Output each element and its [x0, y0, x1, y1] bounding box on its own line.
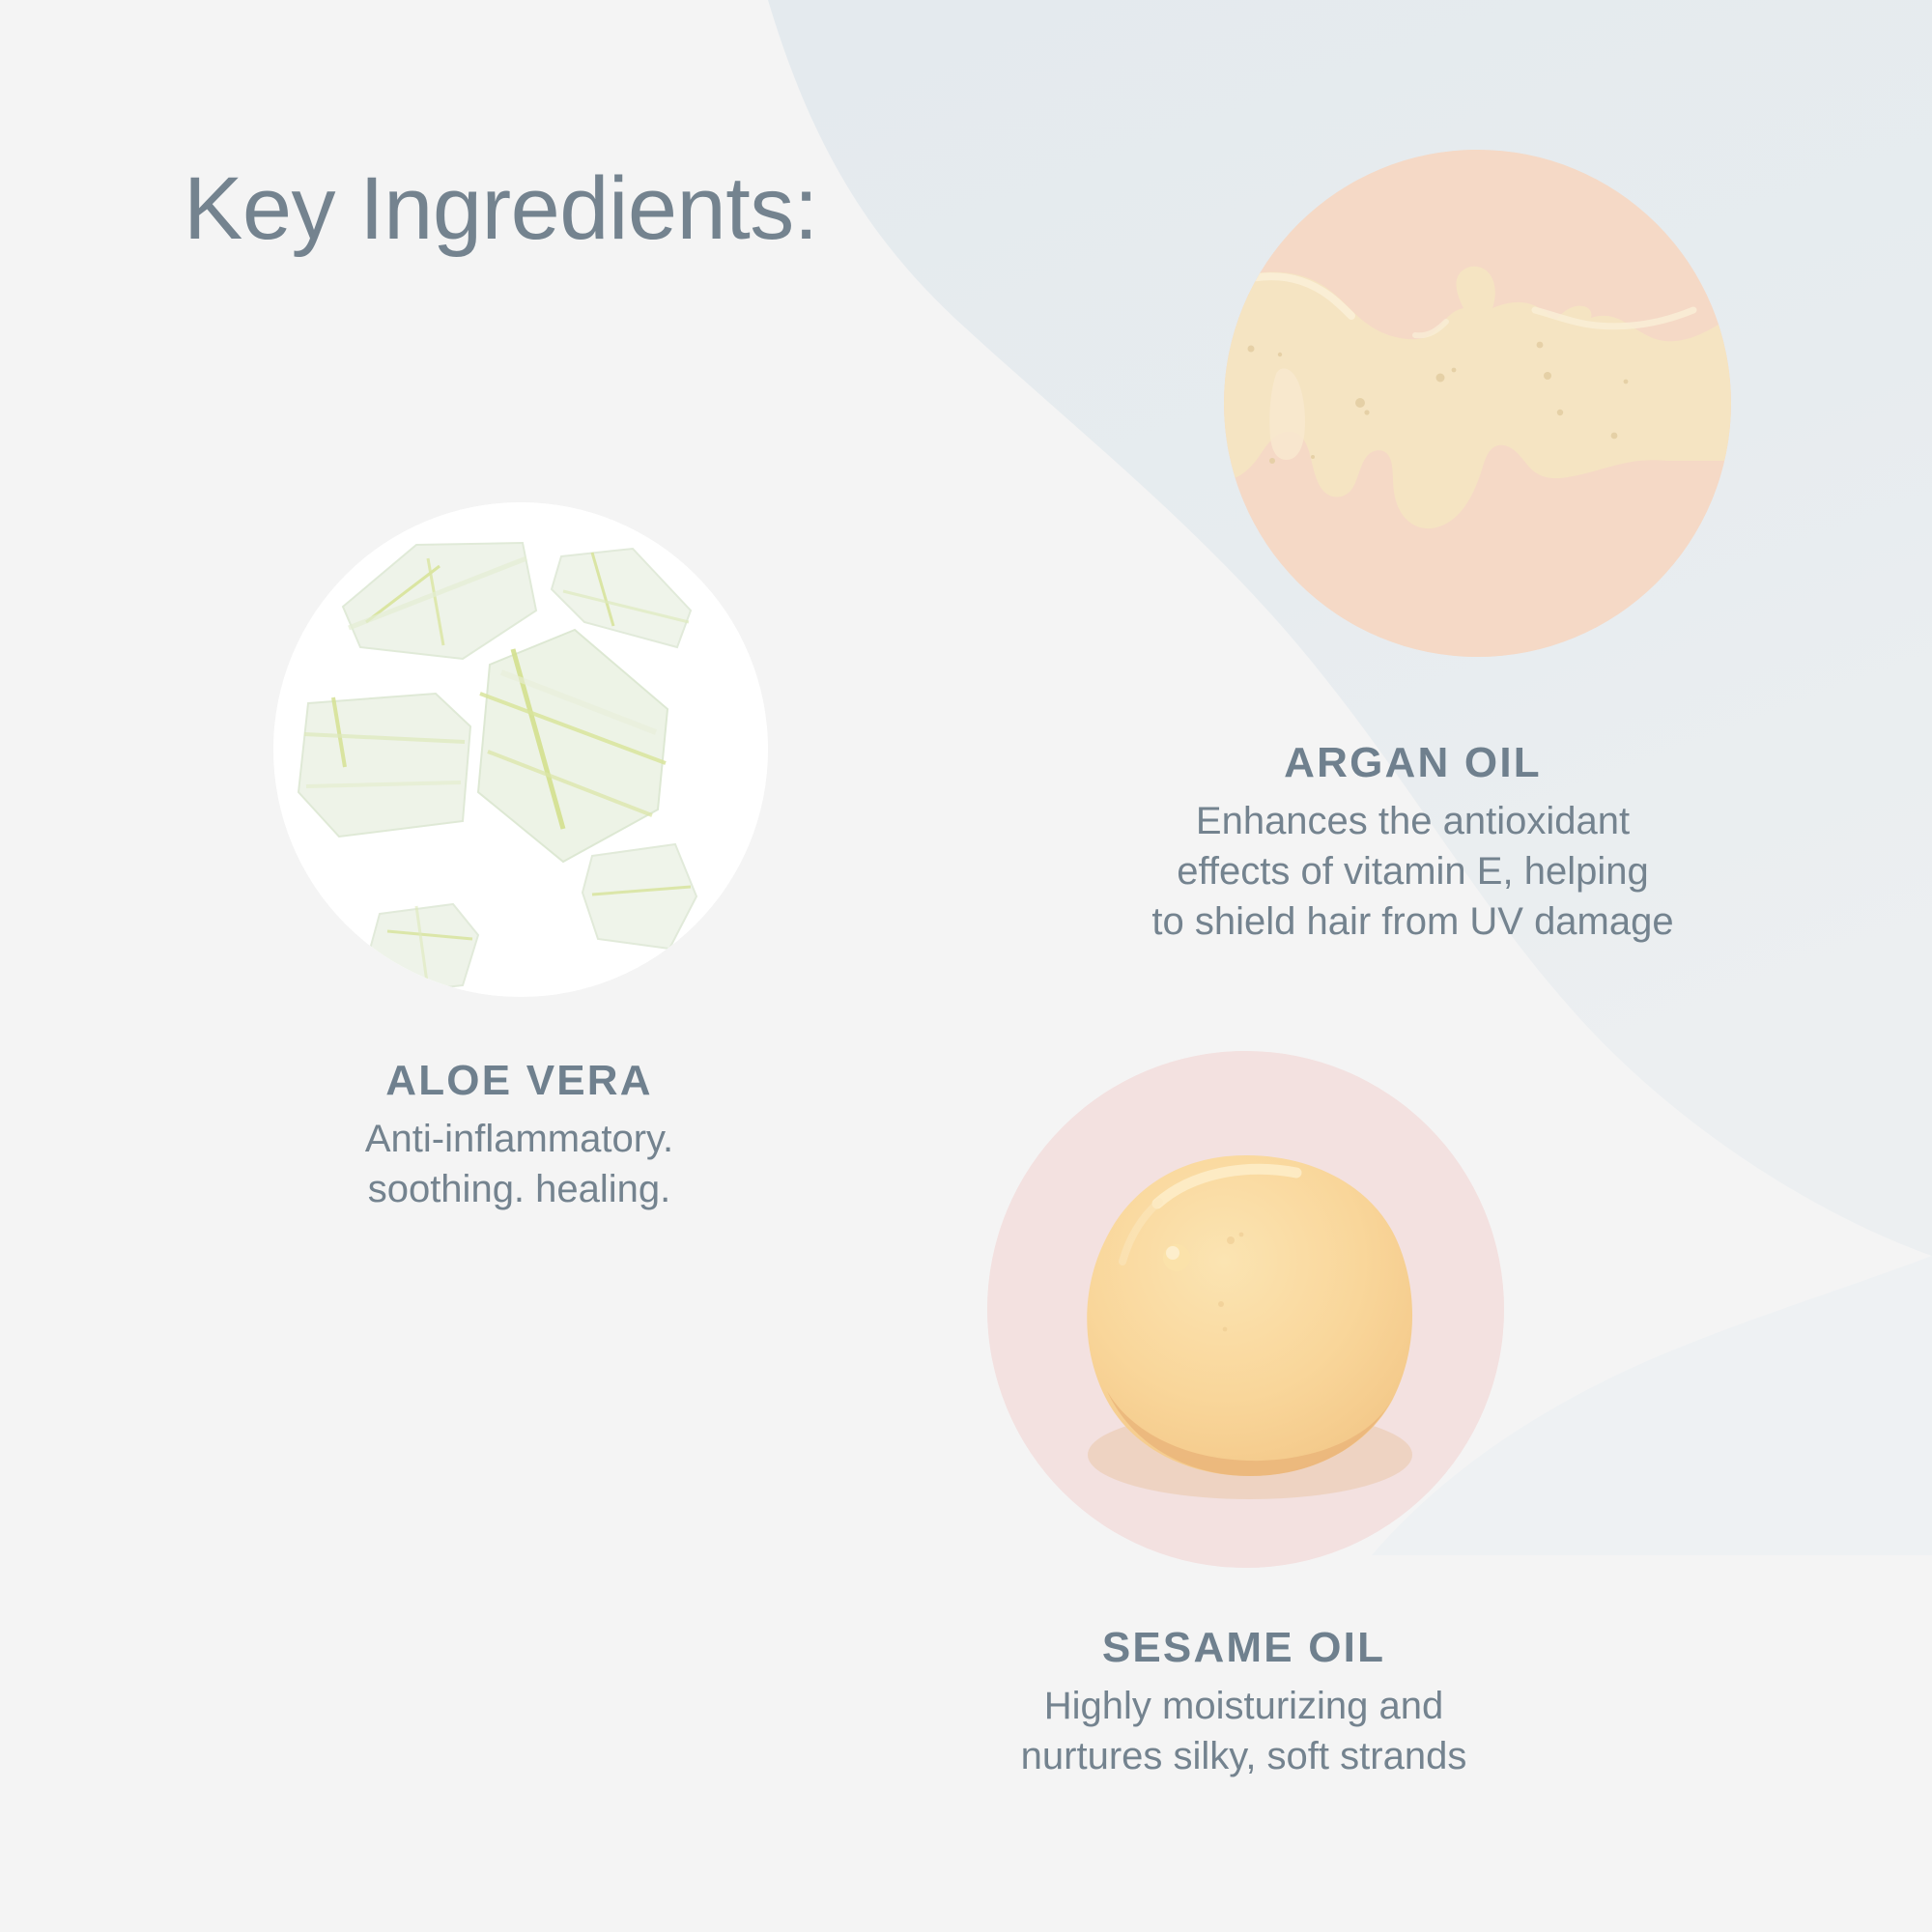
- aloe-vera-swatch: [273, 502, 768, 997]
- ingredient-description-line: effects of vitamin E, helping: [894, 846, 1932, 896]
- ingredient-card-sesame-oil: SESAME OIL Highly moisturizing and nurtu…: [724, 1051, 1763, 1781]
- ingredient-description-line: Enhances the antioxidant: [894, 796, 1932, 846]
- sesame-oil-caption: SESAME OIL Highly moisturizing and nurtu…: [724, 1624, 1763, 1781]
- ingredient-card-argan-oil: ARGAN OIL Enhances the antioxidant effec…: [894, 150, 1932, 947]
- ingredient-description-line: nurtures silky, soft strands: [724, 1731, 1763, 1781]
- ingredient-name: SESAME OIL: [724, 1624, 1763, 1671]
- argan-oil-swatch: [1224, 150, 1731, 657]
- sesame-oil-swatch: [987, 1051, 1504, 1568]
- ingredient-description-line: to shield hair from UV damage: [894, 896, 1932, 947]
- ingredient-name: ARGAN OIL: [894, 739, 1932, 786]
- argan-oil-caption: ARGAN OIL Enhances the antioxidant effec…: [894, 739, 1932, 947]
- ingredient-description-line: Highly moisturizing and: [724, 1681, 1763, 1731]
- aloe-cube: [298, 694, 470, 837]
- page-title: Key Ingredients:: [184, 162, 818, 256]
- aloe-cube: [368, 904, 478, 993]
- oil-bubble: [1163, 1244, 1190, 1271]
